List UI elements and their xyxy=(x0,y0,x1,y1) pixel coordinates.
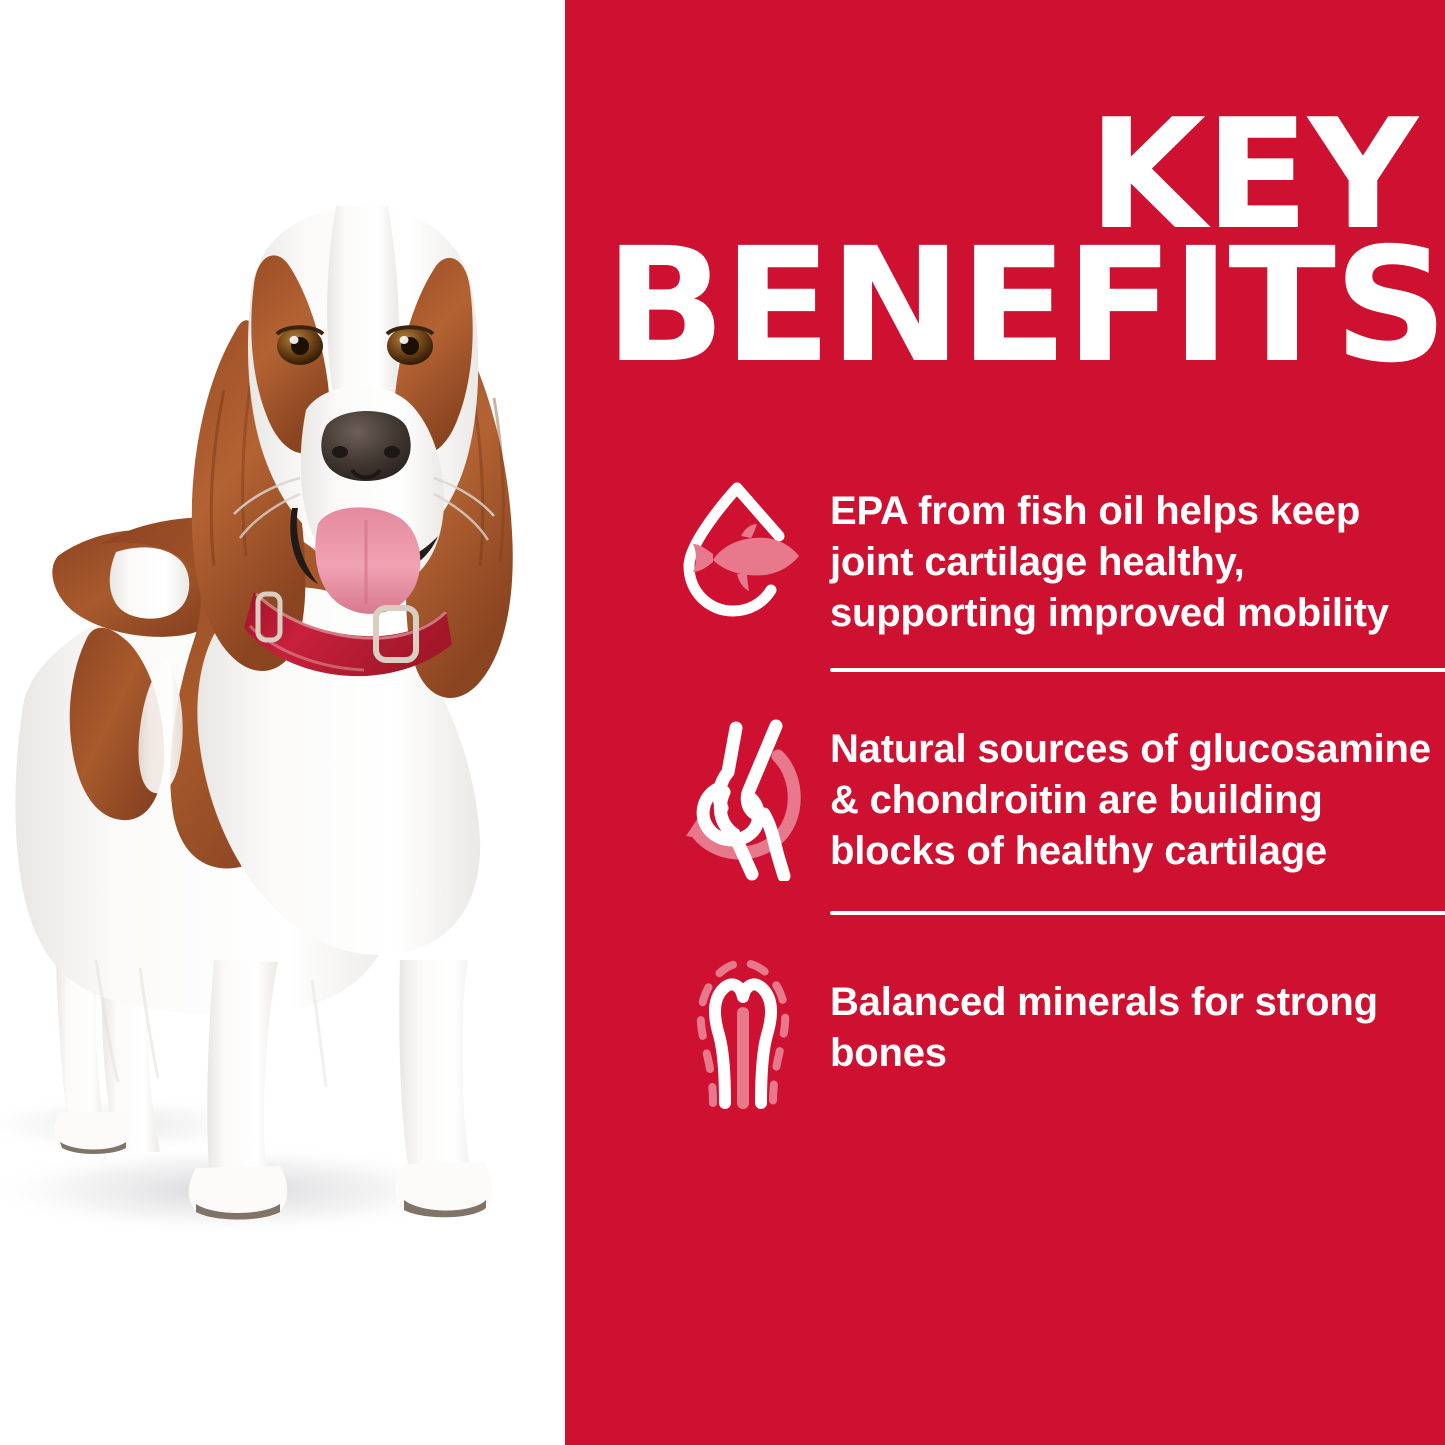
dog-photograph xyxy=(0,0,565,1445)
benefit-item-glucosamine: Natural sources of glucosamine & chondro… xyxy=(655,706,1445,881)
page-title: KEY BENEFITS xyxy=(605,110,1417,373)
strong-bone-icon xyxy=(655,941,830,1111)
benefits-list: EPA from fish oil helps keep joint carti… xyxy=(655,468,1445,1111)
benefit-text-minerals: Balanced minerals for strong bones xyxy=(830,941,1445,1079)
benefit-text-glucosamine: Natural sources of glucosamine & chondro… xyxy=(830,706,1445,876)
title-line-2: BENEFITS xyxy=(605,239,1417,373)
joint-mobility-glyph xyxy=(672,716,814,881)
fish-oil-droplet-icon xyxy=(655,468,830,628)
benefit-text-epa: EPA from fish oil helps keep joint carti… xyxy=(830,468,1445,638)
strong-bone-glyph xyxy=(683,951,803,1111)
fish-oil-droplet-glyph xyxy=(679,478,807,628)
joint-mobility-icon xyxy=(655,706,830,881)
benefit-item-minerals: Balanced minerals for strong bones xyxy=(655,941,1445,1111)
dog-illustration xyxy=(0,0,565,1445)
benefit-item-epa: EPA from fish oil helps keep joint carti… xyxy=(655,468,1445,638)
benefits-red-panel: KEY BENEFITS xyxy=(565,0,1445,1445)
key-benefits-panel: KEY BENEFITS xyxy=(0,0,1445,1445)
